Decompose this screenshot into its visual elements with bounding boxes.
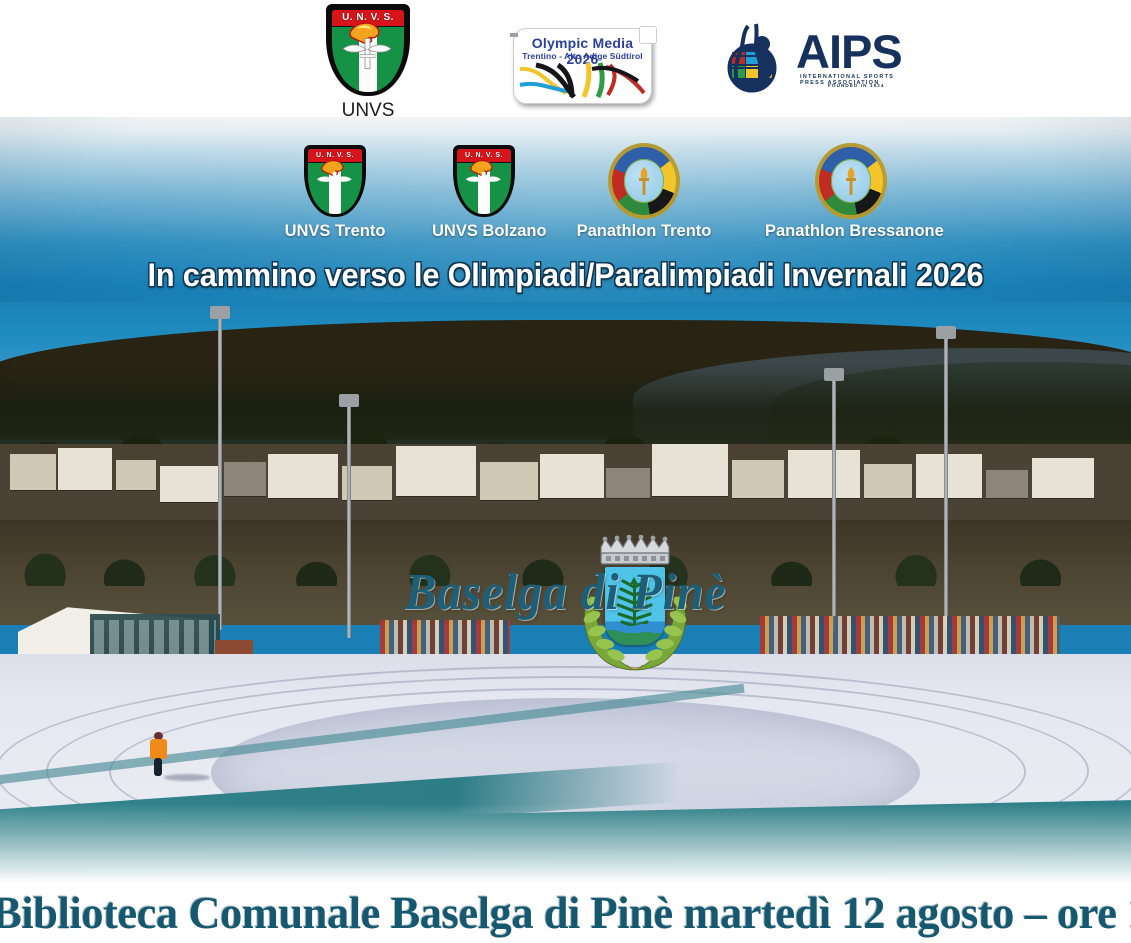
page-title: In cammino verso le Olimpiadi/Paralimpia… (23, 257, 1109, 294)
logo-panathlon-bressanone: Panathlon Bressanone (765, 145, 937, 241)
torch-icon (840, 166, 862, 198)
top-logo-bar: U. N. V. S. UNVS Rovereto Olympic Media … (0, 0, 1131, 117)
floodlight-head (339, 394, 359, 407)
olympic-swoosh-icon (514, 59, 651, 101)
aips-founded: FOUNDED IN 1924 (828, 83, 885, 88)
panathlon-ring-icon (817, 145, 885, 217)
logo-panathlon-trento: Panathlon Trento (574, 145, 714, 241)
photo-crowd (380, 620, 510, 654)
unvs-shield-icon: U. N. V. S. (453, 145, 515, 217)
logo-caption-unvs-bolzano: UNVS Bolzano (432, 222, 536, 241)
logo-unvs-trento: U. N. V. S. UNVS Trento (283, 145, 387, 241)
photo-bottom-fade (0, 803, 1131, 883)
footer-text: Sala Biblioteca Comunale Baselga di Pinè… (0, 887, 1131, 939)
logo-caption-panathlon-bressanone: Panathlon Bressanone (765, 222, 937, 241)
place-title: Baselga di Pinè (45, 563, 1086, 622)
aips-globe-icon (718, 22, 794, 94)
logo-caption-unvs-trento: UNVS Trento (283, 222, 387, 241)
floodlight-head (824, 368, 844, 381)
floodlight-head (936, 326, 956, 339)
floodlight-head (210, 306, 230, 319)
torch-icon (311, 157, 359, 201)
footer-bar: Sala Biblioteca Comunale Baselga di Pinè… (0, 883, 1131, 943)
unvs-shield-icon: U. N. V. S. (326, 4, 410, 96)
unvs-shield-icon: U. N. V. S. (304, 145, 366, 217)
partner-logo-row: U. N. V. S. UNVS Trento U. (0, 145, 1131, 265)
event-poster: U. N. V. S. UNVS Rovereto Olympic Media … (0, 0, 1131, 943)
logo-aips: AIPS INTERNATIONAL SPORTS PRESS ASSOCIAT… (718, 22, 898, 94)
logo-unvs-bolzano: U. N. V. S. UNVS Bolzano (432, 145, 536, 241)
panathlon-ring-icon (610, 145, 678, 217)
torch-icon (633, 166, 655, 198)
logo-olympic-media-2026: Olympic Media 2026 Trentino - Alto Adige… (513, 28, 652, 104)
aips-wordmark: AIPS (796, 28, 902, 75)
photo-village (0, 444, 1131, 526)
logo-caption-panathlon-trento: Panathlon Trento (574, 222, 714, 241)
torch-icon (335, 18, 401, 76)
poster-stage: U. N. V. S. UNVS Trento U. (0, 117, 1131, 883)
torch-icon (460, 157, 508, 201)
